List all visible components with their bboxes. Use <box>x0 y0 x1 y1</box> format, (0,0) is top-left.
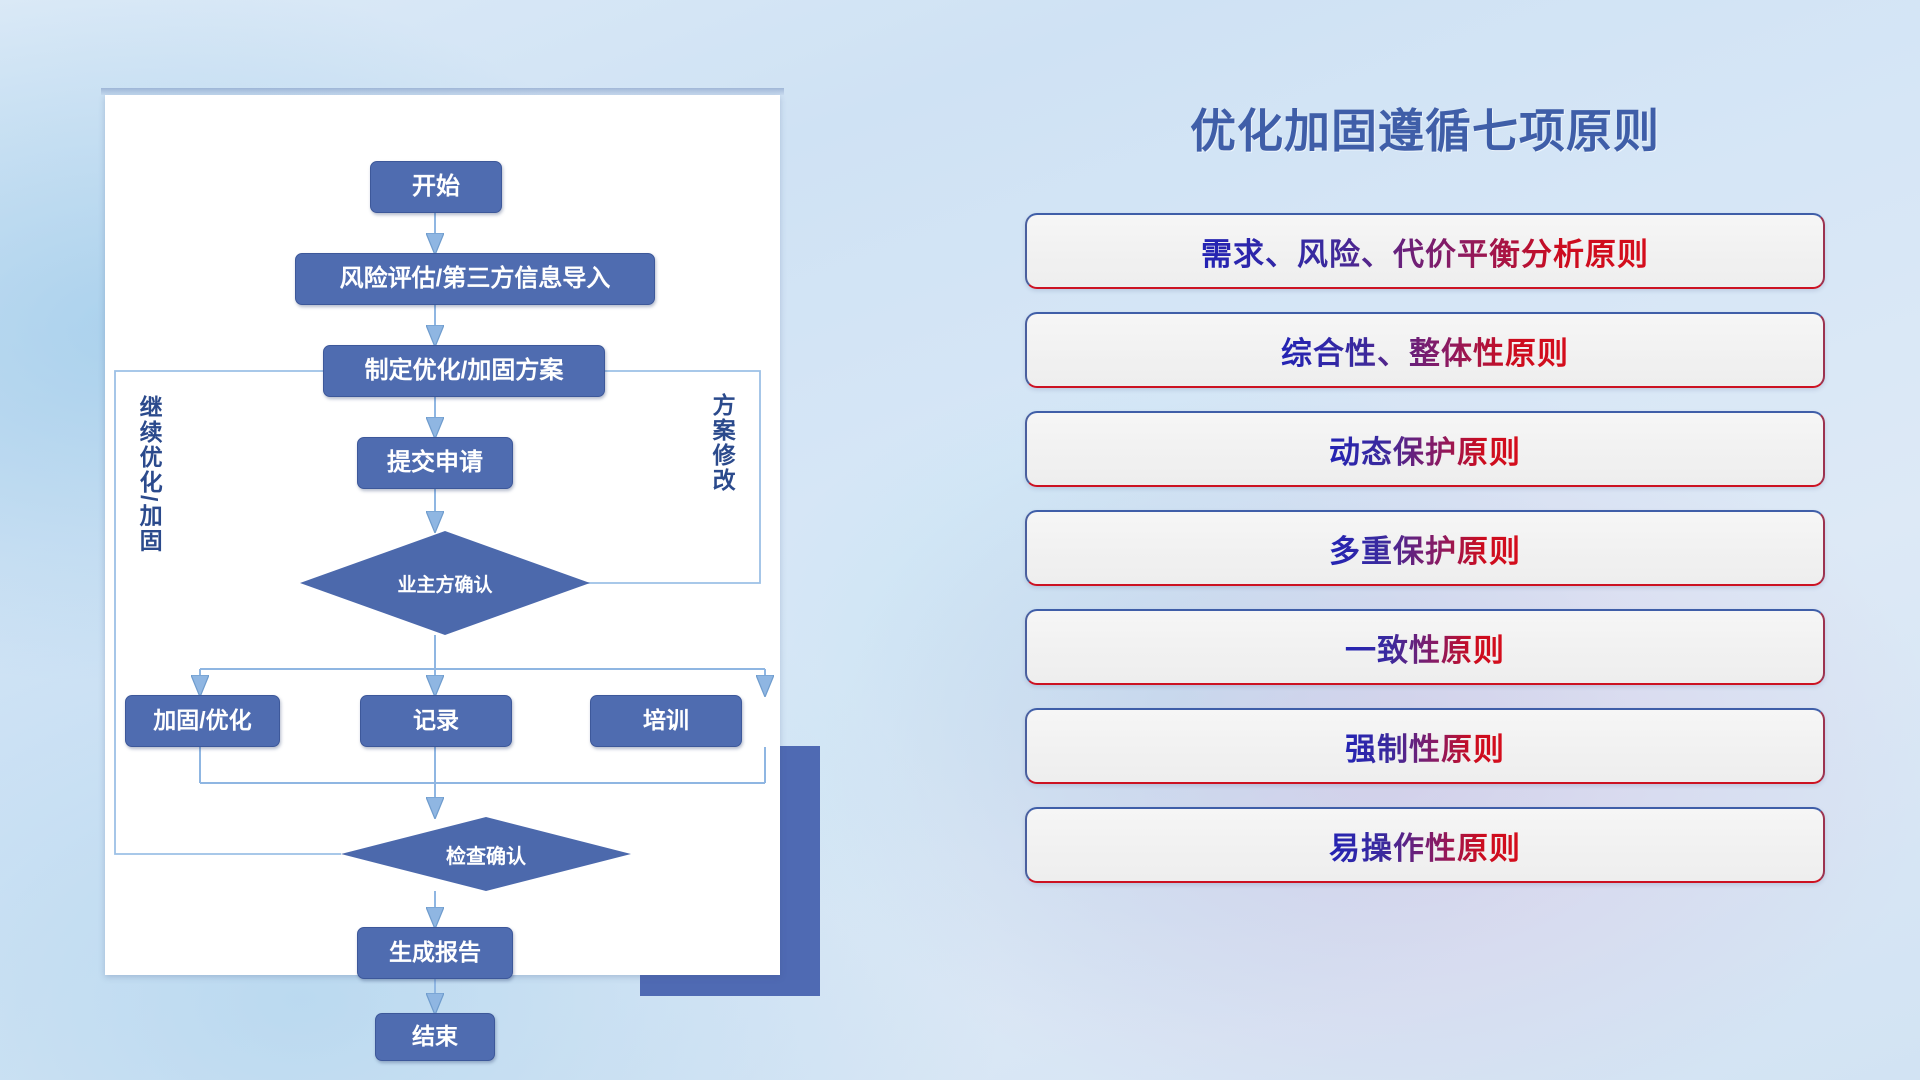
flow-node-label: 培训 <box>643 708 689 733</box>
edge-label-continue-optimize: 继续优化/加固 <box>137 395 161 553</box>
flow-node-plan[interactable]: 制定优化/加固方案 <box>323 345 605 397</box>
panel-title: 优化加固遵循七项原则 <box>1010 95 1840 161</box>
principle-label: 多重保护原则 <box>1329 526 1521 571</box>
principle-label: 易操作性原则 <box>1329 823 1521 868</box>
flow-node-training[interactable]: 培训 <box>590 695 742 747</box>
flow-node-label: 提交申请 <box>387 450 483 476</box>
flow-node-label: 结束 <box>412 1024 458 1049</box>
principle-label: 强制性原则 <box>1345 724 1505 769</box>
principles-panel: 优化加固遵循七项原则 需求、风险、代价平衡分析原则 综合性、整体性原则 动态保护… <box>1010 95 1840 995</box>
flow-node-label: 检查确认 <box>446 840 526 869</box>
edge-label-plan-revise: 方案修改 <box>710 393 734 493</box>
flow-node-label: 记录 <box>413 708 459 733</box>
principle-label: 综合性、整体性原则 <box>1281 328 1569 373</box>
flowchart-card: 开始 风险评估/第三方信息导入 制定优化/加固方案 提交申请 业主方确认 加固/… <box>105 95 780 975</box>
flow-node-reinforce[interactable]: 加固/优化 <box>125 695 280 747</box>
principle-card[interactable]: 综合性、整体性原则 <box>1025 312 1825 388</box>
flow-node-label: 风险评估/第三方信息导入 <box>340 266 611 292</box>
flow-node-report[interactable]: 生成报告 <box>357 927 513 979</box>
flow-node-end[interactable]: 结束 <box>375 1013 495 1061</box>
principle-label: 动态保护原则 <box>1329 427 1521 472</box>
flow-node-start[interactable]: 开始 <box>370 161 502 213</box>
flow-node-label: 加固/优化 <box>153 708 251 733</box>
principle-card[interactable]: 易操作性原则 <box>1025 807 1825 883</box>
principle-card[interactable]: 强制性原则 <box>1025 708 1825 784</box>
principle-card[interactable]: 多重保护原则 <box>1025 510 1825 586</box>
principle-card[interactable]: 一致性原则 <box>1025 609 1825 685</box>
flow-node-label: 生成报告 <box>389 940 481 965</box>
flow-node-label: 开始 <box>412 174 460 200</box>
flow-node-record[interactable]: 记录 <box>360 695 512 747</box>
flowchart: 开始 风险评估/第三方信息导入 制定优化/加固方案 提交申请 业主方确认 加固/… <box>105 95 780 975</box>
principle-card[interactable]: 动态保护原则 <box>1025 411 1825 487</box>
principle-label: 一致性原则 <box>1345 625 1505 670</box>
flow-node-label: 制定优化/加固方案 <box>365 358 564 384</box>
slide-stage: 开始 风险评估/第三方信息导入 制定优化/加固方案 提交申请 业主方确认 加固/… <box>0 0 1920 1080</box>
flow-node-label: 业主方确认 <box>397 570 492 597</box>
principles-list: 需求、风险、代价平衡分析原则 综合性、整体性原则 动态保护原则 多重保护原则 一… <box>1025 213 1825 906</box>
principle-card[interactable]: 需求、风险、代价平衡分析原则 <box>1025 213 1825 289</box>
principle-label: 需求、风险、代价平衡分析原则 <box>1201 229 1649 274</box>
flow-node-risk[interactable]: 风险评估/第三方信息导入 <box>295 253 655 305</box>
flow-node-submit[interactable]: 提交申请 <box>357 437 513 489</box>
